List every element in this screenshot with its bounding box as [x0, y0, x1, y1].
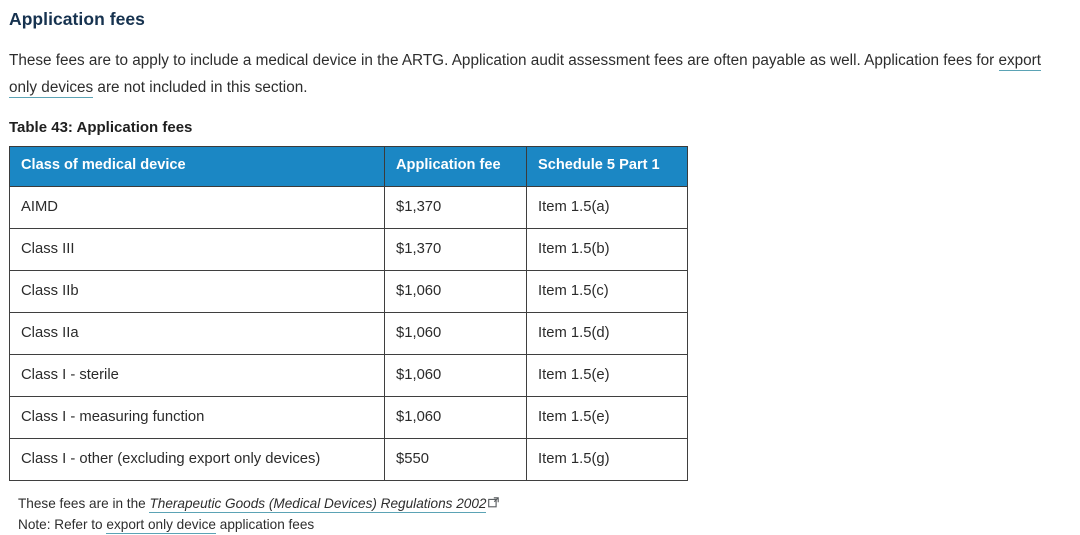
table-footnotes: These fees are in the Therapeutic Goods … — [0, 481, 1080, 535]
cell-fee: $550 — [385, 438, 527, 480]
cell-fee: $1,060 — [385, 396, 527, 438]
column-header-schedule: Schedule 5 Part 1 — [527, 147, 688, 187]
footnote-note: Note: Refer to export only device applic… — [18, 514, 1080, 535]
external-link-icon — [488, 493, 499, 504]
table-row: Class I - other (excluding export only d… — [10, 438, 688, 480]
cell-fee: $1,060 — [385, 312, 527, 354]
cell-schedule: Item 1.5(d) — [527, 312, 688, 354]
cell-fee: $1,060 — [385, 354, 527, 396]
table-row: Class III $1,370 Item 1.5(b) — [10, 228, 688, 270]
intro-text-before-link: These fees are to apply to include a med… — [9, 52, 999, 69]
cell-fee: $1,060 — [385, 270, 527, 312]
cell-class: Class I - sterile — [10, 354, 385, 396]
cell-schedule: Item 1.5(g) — [527, 438, 688, 480]
application-fees-table: Class of medical device Application fee … — [9, 146, 688, 481]
document-page: Application fees These fees are to apply… — [0, 0, 1080, 526]
table-header: Class of medical device Application fee … — [10, 147, 688, 187]
column-header-application-fee: Application fee — [385, 147, 527, 187]
cell-class: Class IIa — [10, 312, 385, 354]
cell-class: Class III — [10, 228, 385, 270]
cell-schedule: Item 1.5(a) — [527, 186, 688, 228]
cell-schedule: Item 1.5(c) — [527, 270, 688, 312]
cell-class: AIMD — [10, 186, 385, 228]
note-text-after-link: application fees — [216, 517, 314, 532]
cell-schedule: Item 1.5(b) — [527, 228, 688, 270]
cell-schedule: Item 1.5(e) — [527, 396, 688, 438]
export-only-device-link[interactable]: export only device — [106, 517, 216, 534]
table-row: Class I - sterile $1,060 Item 1.5(e) — [10, 354, 688, 396]
regulations-2002-link[interactable]: Therapeutic Goods (Medical Devices) Regu… — [149, 496, 486, 513]
table-header-row: Class of medical device Application fee … — [10, 147, 688, 187]
table-body: AIMD $1,370 Item 1.5(a) Class III $1,370… — [10, 186, 688, 480]
page-title: Application fees — [0, 0, 1080, 31]
table-row: Class I - measuring function $1,060 Item… — [10, 396, 688, 438]
footnote-regulations: These fees are in the Therapeutic Goods … — [18, 492, 1080, 514]
column-header-class: Class of medical device — [10, 147, 385, 187]
cell-class: Class I - measuring function — [10, 396, 385, 438]
intro-paragraph: These fees are to apply to include a med… — [0, 31, 1080, 101]
table-container: Class of medical device Application fee … — [0, 137, 1080, 481]
cell-fee: $1,370 — [385, 228, 527, 270]
table-row: AIMD $1,370 Item 1.5(a) — [10, 186, 688, 228]
footnote-text-before-link: These fees are in the — [18, 496, 149, 511]
table-caption: Table 43: Application fees — [0, 101, 1080, 138]
cell-class: Class IIb — [10, 270, 385, 312]
note-text-before-link: Note: Refer to — [18, 517, 106, 532]
cell-schedule: Item 1.5(e) — [527, 354, 688, 396]
table-row: Class IIb $1,060 Item 1.5(c) — [10, 270, 688, 312]
table-row: Class IIa $1,060 Item 1.5(d) — [10, 312, 688, 354]
cell-fee: $1,370 — [385, 186, 527, 228]
intro-text-after-link: are not included in this section. — [93, 79, 307, 96]
cell-class: Class I - other (excluding export only d… — [10, 438, 385, 480]
